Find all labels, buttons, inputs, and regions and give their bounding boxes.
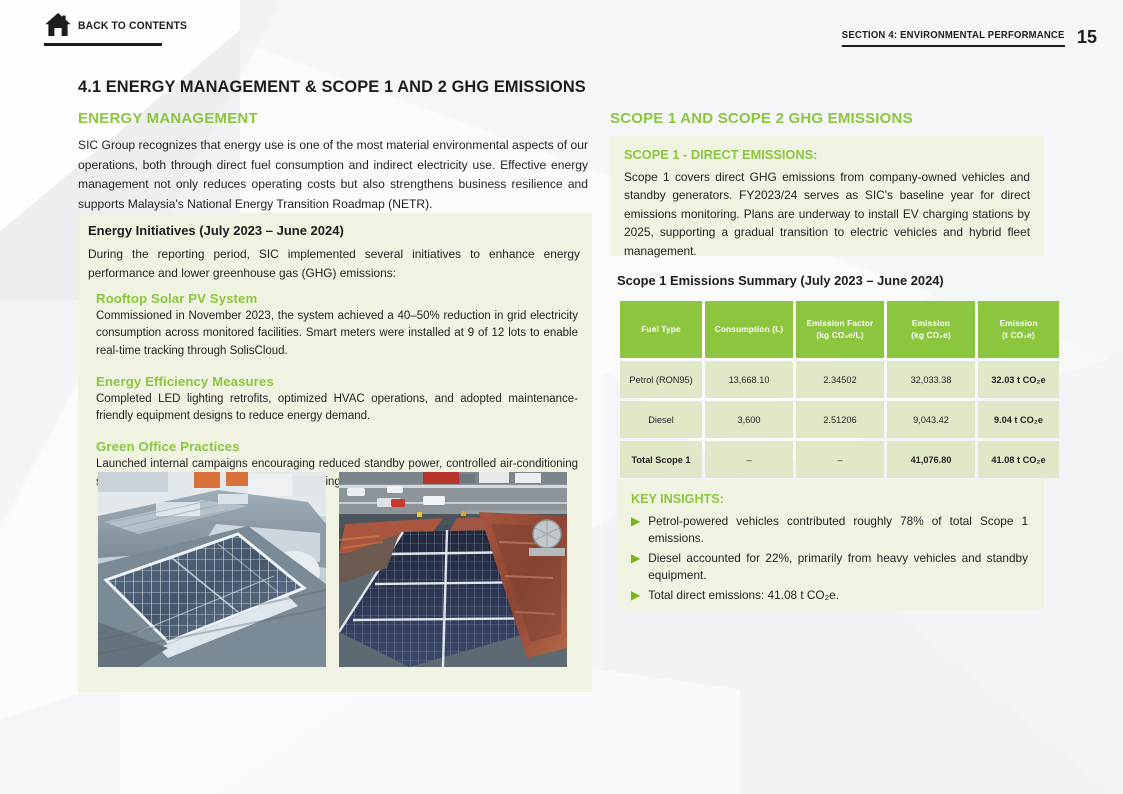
table-row: Total Scope 1 – – 41,076.80 41.08 t CO₂e <box>620 441 1059 478</box>
initiative-body: Commissioned in November 2023, the syste… <box>96 308 578 360</box>
table-cell: 41,076.80 <box>887 441 975 478</box>
scope1-body: Scope 1 covers direct GHG emissions from… <box>624 168 1030 260</box>
table-header-cell: Emission Factor (kg CO₂e/L) <box>796 301 884 358</box>
key-insight-text: Petrol-powered vehicles contributed roug… <box>648 513 1028 547</box>
report-page: BACK TO CONTENTS SECTION 4: ENVIRONMENTA… <box>0 0 1123 794</box>
table-cell: 2.34502 <box>796 361 884 398</box>
table-cell: 2.51206 <box>796 401 884 438</box>
table-row: Petrol (RON95) 13,668.10 2.34502 32,033.… <box>620 361 1059 398</box>
energy-management-intro: SIC Group recognizes that energy use is … <box>78 136 588 214</box>
arrow-bullet-icon: ▶ <box>631 587 640 604</box>
table-header-row: Fuel Type Consumption (L) Emission Facto… <box>620 301 1059 358</box>
key-insight-item: ▶ Diesel accounted for 22%, primarily fr… <box>631 550 1028 584</box>
arrow-bullet-icon: ▶ <box>631 550 640 584</box>
initiative-item: Energy Efficiency Measures Completed LED… <box>96 374 578 426</box>
header-line-1: Emission Factor <box>807 318 874 328</box>
table-cell: 3,600 <box>705 401 793 438</box>
home-icon <box>44 11 72 38</box>
table-header-cell: Fuel Type <box>620 301 702 358</box>
table-cell: – <box>705 441 793 478</box>
table-cell: Total Scope 1 <box>620 441 702 478</box>
header-line-1: Emission <box>999 318 1037 328</box>
rooftop-solar-panels-photo-2 <box>339 472 567 667</box>
table-row: Diesel 3,600 2.51206 9,043.42 9.04 t CO₂… <box>620 401 1059 438</box>
photo-gallery <box>98 472 567 667</box>
initiative-heading: Rooftop Solar PV System <box>96 291 578 306</box>
table-cell: Petrol (RON95) <box>620 361 702 398</box>
header-line-2: (kg CO₂e/L) <box>816 330 863 340</box>
table-header-cell: Emission (kg CO₂e) <box>887 301 975 358</box>
key-insight-text: Total direct emissions: 41.08 t CO₂e. <box>648 587 1028 604</box>
back-to-contents-link[interactable]: BACK TO CONTENTS <box>44 11 197 38</box>
page-title: 4.1 ENERGY MANAGEMENT & SCOPE 1 AND 2 GH… <box>78 78 586 97</box>
key-insight-item: ▶ Petrol-powered vehicles contributed ro… <box>631 513 1028 547</box>
table-cell: 32.03 t CO₂e <box>978 361 1059 398</box>
rooftop-solar-panels-photo-1 <box>98 472 326 667</box>
scope1-emissions-table: Fuel Type Consumption (L) Emission Facto… <box>617 298 1062 481</box>
key-insights-box: KEY INSIGHTS: ▶ Petrol-powered vehicles … <box>617 479 1044 609</box>
table-cell: 41.08 t CO₂e <box>978 441 1059 478</box>
table-cell: 32,033.38 <box>887 361 975 398</box>
header-line-2: (t CO₂e) <box>1002 330 1035 340</box>
table-cell: – <box>796 441 884 478</box>
section-label: SECTION 4: ENVIRONMENTAL PERFORMANCE <box>842 30 1065 47</box>
table-header-cell: Emission (t CO₂e) <box>978 301 1059 358</box>
header-line-2: (kg CO₂e) <box>911 330 951 340</box>
back-to-contents-underline <box>44 43 162 46</box>
header-line-1: Consumption (L) <box>715 324 784 334</box>
table-cell: 13,668.10 <box>705 361 793 398</box>
table-cell: 9,043.42 <box>887 401 975 438</box>
table-cell: Diesel <box>620 401 702 438</box>
emissions-table-title: Scope 1 Emissions Summary (July 2023 – J… <box>617 273 944 288</box>
initiative-item: Rooftop Solar PV System Commissioned in … <box>96 291 578 360</box>
scope1-title: SCOPE 1 - DIRECT EMISSIONS: <box>624 147 1030 162</box>
scope1-direct-emissions-box: SCOPE 1 - DIRECT EMISSIONS: Scope 1 cove… <box>610 136 1044 256</box>
scope-emissions-heading: SCOPE 1 AND SCOPE 2 GHG EMISSIONS <box>610 110 913 127</box>
arrow-bullet-icon: ▶ <box>631 513 640 547</box>
table-cell: 9.04 t CO₂e <box>978 401 1059 438</box>
energy-initiatives-lead: During the reporting period, SIC impleme… <box>88 245 580 284</box>
page-number: 15 <box>1077 28 1097 47</box>
header-line-1: Fuel Type <box>641 324 680 334</box>
key-insight-text: Diesel accounted for 22%, primarily from… <box>648 550 1028 584</box>
energy-initiatives-panel: Energy Initiatives (July 2023 – June 202… <box>78 213 592 692</box>
key-insights-title: KEY INSIGHTS: <box>631 492 1028 506</box>
initiative-body: Completed LED lighting retrofits, optimi… <box>96 391 578 426</box>
energy-management-heading: ENERGY MANAGEMENT <box>78 110 258 127</box>
back-to-contents-label: BACK TO CONTENTS <box>78 17 187 32</box>
initiative-heading: Green Office Practices <box>96 439 578 454</box>
page-header: BACK TO CONTENTS SECTION 4: ENVIRONMENTA… <box>0 0 1123 60</box>
energy-initiatives-title: Energy Initiatives (July 2023 – June 202… <box>88 223 344 238</box>
key-insight-item: ▶ Total direct emissions: 41.08 t CO₂e. <box>631 587 1028 604</box>
header-line-1: Emission <box>912 318 950 328</box>
table-header-cell: Consumption (L) <box>705 301 793 358</box>
initiative-heading: Energy Efficiency Measures <box>96 374 578 389</box>
section-indicator: SECTION 4: ENVIRONMENTAL PERFORMANCE 15 <box>825 28 1097 47</box>
